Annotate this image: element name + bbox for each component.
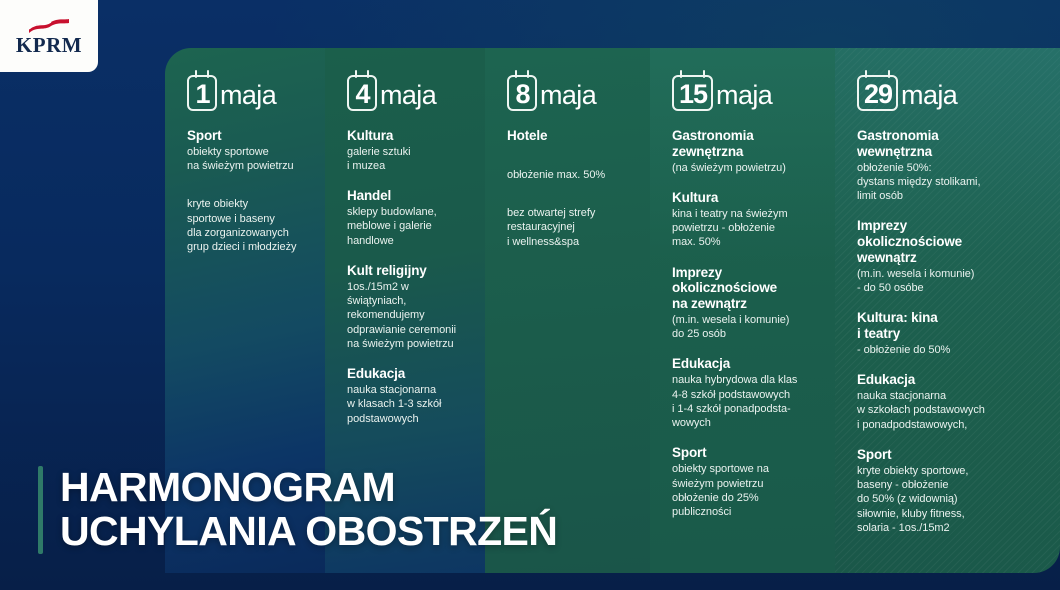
content-block: Imprezy okolicznościowe wewnątrz (m.in. … xyxy=(857,218,1043,295)
headline: HARMONOGRAM UCHYLANIA OBOSTRZEŃ xyxy=(38,466,557,554)
block-title: Gastronomia zewnętrzna xyxy=(672,128,818,160)
content-block: Kultura: kina i teatry - obłożenie do 50… xyxy=(857,310,1043,357)
content-block: Edukacja nauka stacjonarna w szkołach po… xyxy=(857,372,1043,432)
content-block: Kultura galerie sztuki i muzea xyxy=(347,128,468,173)
block-body: obiekty sportowe na świeżym powietrzu xyxy=(187,145,308,174)
block-title: Edukacja xyxy=(347,366,468,382)
kprm-logo-text: KPRM xyxy=(16,35,82,56)
content-block: Gastronomia zewnętrzna (na świeżym powie… xyxy=(672,128,818,175)
content-block: Edukacja nauka stacjonarna w klasach 1-3… xyxy=(347,366,468,426)
day-number: 29 xyxy=(864,81,892,108)
block-title: Hotele xyxy=(507,128,633,144)
block-title: Handel xyxy=(347,188,468,204)
kprm-logo: KPRM xyxy=(0,0,98,72)
day-number: 4 xyxy=(355,81,369,108)
block-title: Sport xyxy=(672,445,818,461)
content-block: Kultura kina i teatry na świeżym powietr… xyxy=(672,190,818,250)
month-label: maja xyxy=(901,82,957,109)
content-block: Gastronomia wewnętrzna obłożenie 50%: dy… xyxy=(857,128,1043,203)
block-title: Imprezy okolicznościowe wewnątrz xyxy=(857,218,1043,265)
block-title: Kultura: kina i teatry xyxy=(857,310,1043,342)
content-block: Sport obiekty sportowe na świeżym powiet… xyxy=(187,128,308,173)
date-heading: 1 maja xyxy=(187,70,308,112)
block-title: Kult religijny xyxy=(347,263,468,279)
content-block: Imprezy okolicznościowe na zewnątrz (m.i… xyxy=(672,265,818,342)
block-body: (m.in. wesela i komunie) do 25 osób xyxy=(672,313,818,342)
content-block: Handel sklepy budowlane, meblowe i galer… xyxy=(347,188,468,248)
block-title: Imprezy okolicznościowe na zewnątrz xyxy=(672,265,818,312)
block-title: Kultura xyxy=(672,190,818,206)
headline-accent-bar xyxy=(38,466,43,554)
block-title: Kultura xyxy=(347,128,468,144)
calendar-icon: 1 xyxy=(187,75,217,111)
polish-flag-emblem-icon xyxy=(27,17,71,34)
block-title: Edukacja xyxy=(857,372,1043,388)
content-block: Sport obiekty sportowe na świeżym powiet… xyxy=(672,445,818,519)
headline-text: HARMONOGRAM UCHYLANIA OBOSTRZEŃ xyxy=(60,466,557,554)
content-block: Edukacja nauka hybrydowa dla klas 4-8 sz… xyxy=(672,356,818,430)
date-heading: 4 maja xyxy=(347,70,468,112)
block-body: kryte obiekty sportowe, baseny - obłożen… xyxy=(857,464,1043,535)
month-label: maja xyxy=(716,82,772,109)
calendar-icon: 29 xyxy=(857,75,898,111)
block-body: - obłożenie do 50% xyxy=(857,343,1043,357)
block-body: sklepy budowlane, meblowe i galerie hand… xyxy=(347,205,468,248)
block-title: Gastronomia wewnętrzna xyxy=(857,128,1043,160)
calendar-icon: 15 xyxy=(672,75,713,111)
day-number: 1 xyxy=(195,81,209,108)
block-body: (na świeżym powietrzu) xyxy=(672,161,818,175)
month-label: maja xyxy=(220,82,276,109)
block-body: kryte obiekty sportowe i baseny dla zorg… xyxy=(187,197,308,254)
date-heading: 8 maja xyxy=(507,70,633,112)
block-body: obiekty sportowe na świeżym powietrzu ob… xyxy=(672,462,818,519)
date-heading: 15 maja xyxy=(672,70,818,112)
block-body: galerie sztuki i muzea xyxy=(347,145,468,174)
content-block: bez otwartej strefy restauracyjnej i wel… xyxy=(507,206,633,249)
calendar-icon: 8 xyxy=(507,75,537,111)
schedule-column-29-maja: 29 maja Gastronomia wewnętrzna obłożenie… xyxy=(835,48,1060,573)
calendar-icon: 4 xyxy=(347,75,377,111)
month-label: maja xyxy=(540,82,596,109)
month-label: maja xyxy=(380,82,436,109)
block-body: obłożenie max. 50% xyxy=(507,168,633,182)
block-body: (m.in. wesela i komunie) - do 50 osóbe xyxy=(857,267,1043,296)
content-block: obłożenie max. 50% xyxy=(507,168,633,182)
block-body: bez otwartej strefy restauracyjnej i wel… xyxy=(507,206,633,249)
block-title: Sport xyxy=(857,447,1043,463)
day-number: 8 xyxy=(515,81,529,108)
date-heading: 29 maja xyxy=(857,70,1043,112)
block-body: kina i teatry na świeżym powietrzu - obł… xyxy=(672,207,818,250)
block-body: obłożenie 50%: dystans między stolikami,… xyxy=(857,161,1043,204)
block-body: nauka stacjonarna w szkołach podstawowyc… xyxy=(857,389,1043,432)
content-block: Hotele xyxy=(507,128,633,144)
content-block: Kult religijny 1os./15m2 w świątyniach, … xyxy=(347,263,468,351)
content-block: Sport kryte obiekty sportowe, baseny - o… xyxy=(857,447,1043,535)
block-body: nauka hybrydowa dla klas 4-8 szkół podst… xyxy=(672,373,818,430)
content-block: kryte obiekty sportowe i baseny dla zorg… xyxy=(187,197,308,254)
schedule-column-15-maja: 15 maja Gastronomia zewnętrzna (na śwież… xyxy=(650,48,835,573)
block-body: nauka stacjonarna w klasach 1-3 szkół po… xyxy=(347,383,468,426)
block-body: 1os./15m2 w świątyniach, rekomendujemy o… xyxy=(347,280,468,351)
day-number: 15 xyxy=(679,81,707,108)
block-title: Edukacja xyxy=(672,356,818,372)
block-title: Sport xyxy=(187,128,308,144)
